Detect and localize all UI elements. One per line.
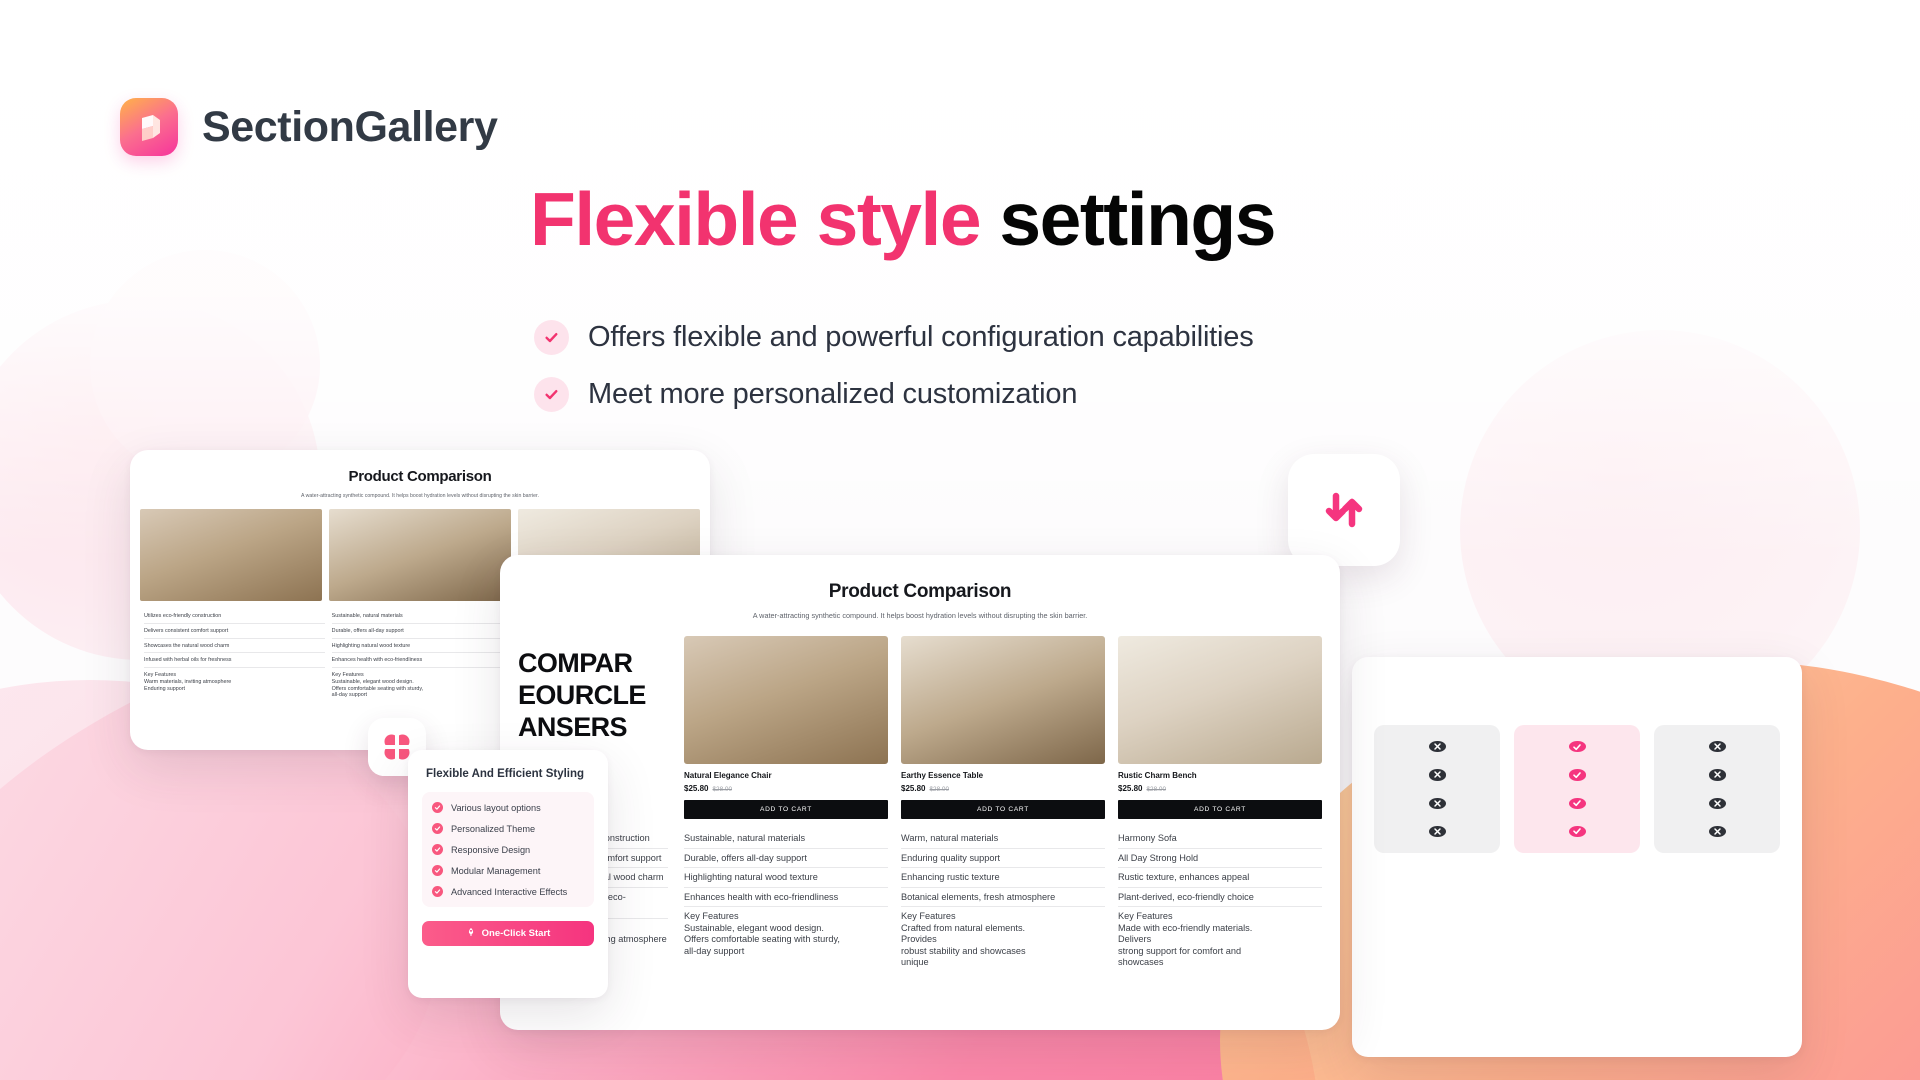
check-circle-icon [534,320,569,355]
one-click-start-button[interactable]: One-Click Start [422,921,594,946]
product-image [140,509,322,601]
add-to-cart-button[interactable]: ADD TO CART [684,800,888,819]
product-image [901,636,1105,764]
product-price: $25.80$28.00 [684,784,888,793]
panel-item-label: Personalized Theme [451,824,535,834]
page-title-rest: settings [980,177,1275,261]
features-title: Key Features [1118,911,1322,923]
price-old: $28.00 [712,786,732,793]
check-icon[interactable] [1569,741,1586,752]
check-circle-icon [432,865,443,876]
check-circle-icon [432,802,443,813]
comparison-table: Utilizes eco-friendly construction Deliv… [500,829,1340,972]
comparison-column: Sustainable, natural materials Durable, … [332,609,513,716]
card-title: Product Comparison [130,468,710,485]
bullet-item: Meet more personalized customization [534,377,1254,412]
table-cell: Enhances health with eco-friendliness [332,653,513,668]
close-icon[interactable] [1709,826,1726,837]
table-cell-features: Key Features Sustainable, elegant wood d… [684,907,888,960]
selection-panel[interactable] [1352,657,1802,1057]
features-body: Sustainable, elegant wood design. Offers… [684,923,840,956]
selection-columns [1352,657,1802,853]
price-current: $25.80 [1118,784,1142,793]
cube-box-icon [120,98,178,156]
panel-list-item[interactable]: Modular Management [432,865,584,876]
table-cell-features: Key Features Sustainable, elegant wood d… [332,668,513,702]
price-old: $28.00 [929,786,949,793]
panel-list-item[interactable]: Advanced Interactive Effects [432,886,584,897]
close-icon[interactable] [1429,769,1446,780]
check-icon[interactable] [1569,798,1586,809]
panel-list-item[interactable]: Personalized Theme [432,823,584,834]
styling-panel[interactable]: Flexible And Efficient Styling Various l… [408,750,608,998]
features-body: Warm materials, inviting atmosphere Endu… [144,679,231,692]
table-cell: Enhancing rustic texture [901,868,1105,888]
table-cell: Highlighting natural wood texture [684,868,888,888]
comparison-column: Sustainable, natural materials Durable, … [684,829,888,972]
features-body: Made with eco-friendly materials. Delive… [1118,923,1252,968]
panel-title: Flexible And Efficient Styling [408,750,608,780]
price-old: $28.00 [1146,786,1166,793]
card-subtitle: A water-attracting synthetic compound. I… [500,611,1340,620]
check-circle-icon [432,823,443,834]
bullet-item: Offers flexible and powerful configurati… [534,320,1254,355]
table-cell: Rustic texture, enhances appeal [1118,868,1322,888]
page-title-highlight: Flexible style [530,177,980,261]
table-cell: Infused with herbal oils for freshness [144,653,325,668]
table-cell: Sustainable, natural materials [684,829,888,849]
table-cell: Botanical elements, fresh atmosphere [901,888,1105,908]
close-icon[interactable] [1429,826,1446,837]
comparison-columns-right: Sustainable, natural materials Durable, … [684,829,1322,972]
table-cell: Durable, offers all-day support [684,849,888,869]
table-cell: Showcases the natural wood charm [144,639,325,654]
table-cell: Durable, offers all-day support [332,624,513,639]
table-cell-features: Key Features Warm materials, inviting at… [144,668,325,695]
table-cell: Enhances health with eco-friendliness [684,888,888,908]
check-icon[interactable] [1569,826,1586,837]
front-right-column: Natural Elegance Chair $25.80$28.00 ADD … [684,636,1322,819]
product-price: $25.80$28.00 [901,784,1105,793]
brand-name: SectionGallery [202,103,498,152]
product-name: Earthy Essence Table [901,771,1105,780]
page-title: Flexible style settings [530,182,1275,257]
close-icon[interactable] [1429,798,1446,809]
product-image [329,509,511,601]
table-cell: Enduring quality support [901,849,1105,869]
table-cell: Plant-derived, eco-friendly choice [1118,888,1322,908]
table-cell: Delivers consistent comfort support [144,624,325,639]
features-body: Crafted from natural elements. Provides … [901,923,1026,968]
selection-column-3[interactable] [1654,725,1780,853]
panel-feature-list: Various layout options Personalized Them… [422,792,594,907]
bullet-label: Offers flexible and powerful configurati… [588,321,1254,354]
page-root: SectionGallery Flexible style settings O… [0,0,1920,1080]
swap-arrows-icon[interactable] [1288,454,1400,566]
table-cell: Utilizes eco-friendly construction [144,609,325,624]
features-body: Sustainable, elegant wood design. Offers… [332,679,423,699]
table-cell-features: Key Features Made with eco-friendly mate… [1118,907,1322,972]
check-circle-icon [534,377,569,412]
rocket-icon [466,927,476,940]
comparison-column: Warm, natural materials Enduring quality… [901,829,1105,972]
table-cell: Highlighting natural wood texture [332,639,513,654]
features-title: Key Features [901,911,1105,923]
front-left-heading: COMPAR EOURCLE ANSERS [518,648,668,744]
comparison-column: Utilizes eco-friendly construction Deliv… [144,609,325,716]
panel-item-label: Advanced Interactive Effects [451,887,567,897]
card-subtitle: A water-attracting synthetic compound. I… [130,493,710,499]
bullet-label: Meet more personalized customization [588,378,1077,411]
check-circle-icon [432,844,443,855]
card-header: Product Comparison A water-attracting sy… [500,555,1340,620]
features-title: Key Features [332,672,513,679]
features-title: Key Features [684,911,888,923]
close-icon[interactable] [1429,741,1446,752]
one-click-start-label: One-Click Start [482,928,551,939]
price-current: $25.80 [684,784,708,793]
product-comparison-card-front[interactable]: Product Comparison A water-attracting sy… [500,555,1340,1030]
add-to-cart-button[interactable]: ADD TO CART [901,800,1105,819]
price-current: $25.80 [901,784,925,793]
panel-list-item[interactable]: Various layout options [432,802,584,813]
product-row: Natural Elegance Chair $25.80$28.00 ADD … [684,636,1322,819]
panel-item-label: Various layout options [451,803,541,813]
add-to-cart-button[interactable]: ADD TO CART [1118,800,1322,819]
panel-item-label: Responsive Design [451,845,530,855]
table-cell: Harmony Sofa [1118,829,1322,849]
close-icon[interactable] [1709,769,1726,780]
product-card[interactable]: Natural Elegance Chair $25.80$28.00 ADD … [684,636,888,819]
check-circle-icon [432,886,443,897]
product-image [684,636,888,764]
feature-bullets: Offers flexible and powerful configurati… [534,320,1254,434]
decor-blob-topleft-2 [90,250,320,480]
close-icon[interactable] [1709,741,1726,752]
table-cell: Warm, natural materials [901,829,1105,849]
front-card-body: COMPAR EOURCLE ANSERS Natural Elegance C… [500,636,1340,819]
product-card[interactable]: Rustic Charm Bench $25.80$28.00 ADD TO C… [1118,636,1322,819]
table-cell-features: Key Features Crafted from natural elemen… [901,907,1105,972]
brand-header: SectionGallery [120,98,498,156]
panel-item-label: Modular Management [451,866,540,876]
product-price: $25.80$28.00 [1118,784,1322,793]
card-title: Product Comparison [500,581,1340,603]
selection-column-2[interactable] [1514,725,1640,853]
table-cell: Sustainable, natural materials [332,609,513,624]
table-cell: All Day Strong Hold [1118,849,1322,869]
panel-list-item[interactable]: Responsive Design [432,844,584,855]
product-card[interactable]: Earthy Essence Table $25.80$28.00 ADD TO… [901,636,1105,819]
product-image [1118,636,1322,764]
comparison-column: Harmony Sofa All Day Strong Hold Rustic … [1118,829,1322,972]
close-icon[interactable] [1709,798,1726,809]
features-title: Key Features [144,672,325,679]
selection-column-1[interactable] [1374,725,1500,853]
card-header: Product Comparison A water-attracting sy… [130,450,710,499]
check-icon[interactable] [1569,769,1586,780]
product-name: Rustic Charm Bench [1118,771,1322,780]
product-name: Natural Elegance Chair [684,771,888,780]
